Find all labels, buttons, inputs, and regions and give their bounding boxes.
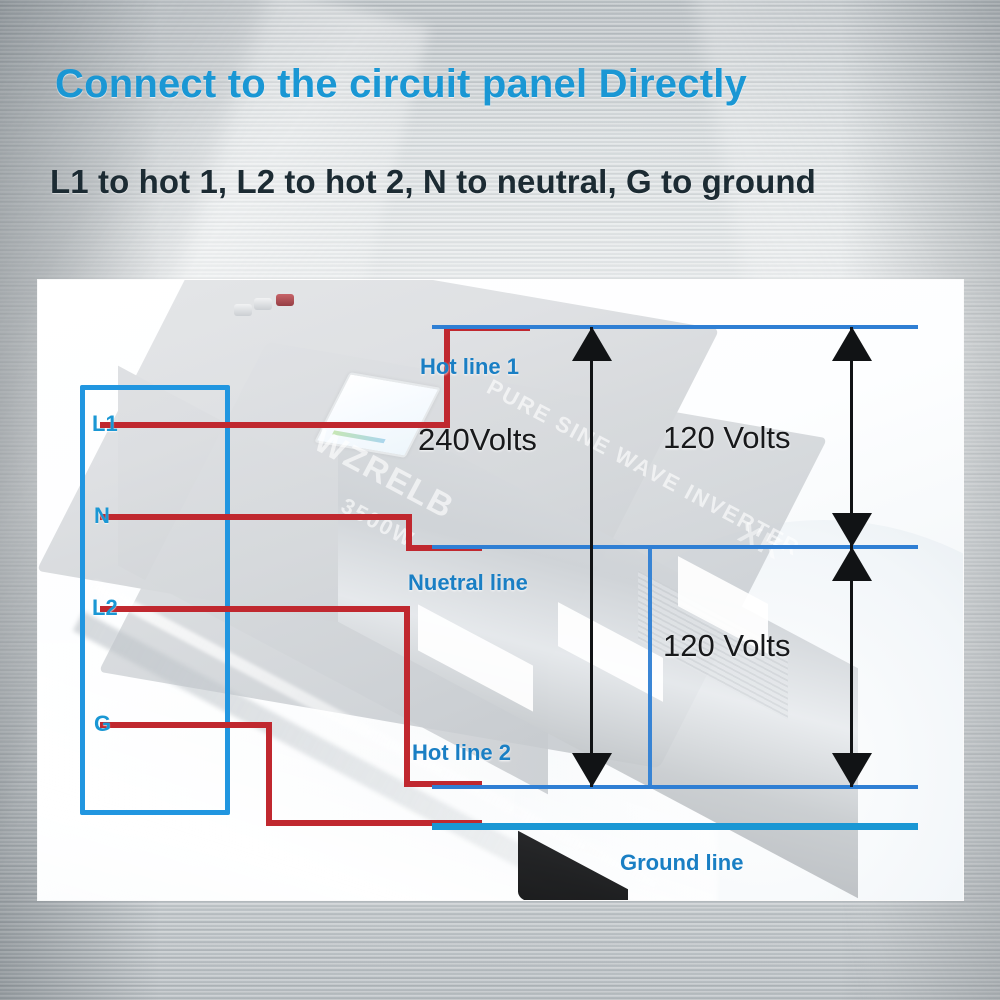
arrow-shaft-240v: [590, 327, 593, 787]
voltage-label-240v: 240Volts: [418, 422, 537, 458]
arrow-head-down-120v-top: [832, 513, 872, 547]
inverter-terminal-a: [254, 298, 272, 310]
arrow-head-up-120v-top: [832, 327, 872, 361]
bus-ground-line: [432, 823, 918, 830]
wire-l1-horizontal: [100, 422, 450, 428]
arrow-head-up-240v: [572, 327, 612, 361]
label-hot-line-1: Hot line 1: [420, 354, 519, 380]
terminal-label-g: G: [94, 711, 111, 737]
terminal-label-l1: L1: [92, 411, 118, 437]
wire-n-horizontal: [100, 514, 412, 520]
wire-l2-vertical: [404, 606, 410, 786]
wire-g-vertical: [266, 722, 272, 826]
wire-g-horizontal: [100, 722, 272, 728]
diagram-panel: WZRELB 3500W PURE SINE WAVE INVERTER XK: [38, 280, 963, 900]
label-hot-line-2: Hot line 2: [412, 740, 511, 766]
wire-l2-horizontal: [100, 606, 410, 612]
inverter-terminal-b: [276, 294, 294, 306]
page-title: Connect to the circuit panel Directly: [55, 62, 955, 107]
label-neutral-line: Nuetral line: [408, 570, 528, 596]
bus-neutral-stub: [648, 545, 652, 787]
voltage-label-120v-top: 120 Volts: [663, 420, 791, 456]
product-infographic: Connect to the circuit panel Directly L1…: [0, 0, 1000, 1000]
arrow-head-down-120v-bottom: [832, 753, 872, 787]
arrow-head-down-240v: [572, 753, 612, 787]
terminal-label-l2: L2: [92, 595, 118, 621]
arrow-shaft-120v-bottom: [850, 547, 853, 787]
label-ground-line: Ground line: [620, 850, 743, 876]
terminal-label-n: N: [94, 503, 110, 529]
arrow-head-up-120v-bottom: [832, 547, 872, 581]
inverter-terminal-c: [234, 304, 252, 316]
page-subtitle: L1 to hot 1, L2 to hot 2, N to neutral, …: [50, 163, 970, 201]
voltage-label-120v-bottom: 120 Volts: [663, 628, 791, 664]
